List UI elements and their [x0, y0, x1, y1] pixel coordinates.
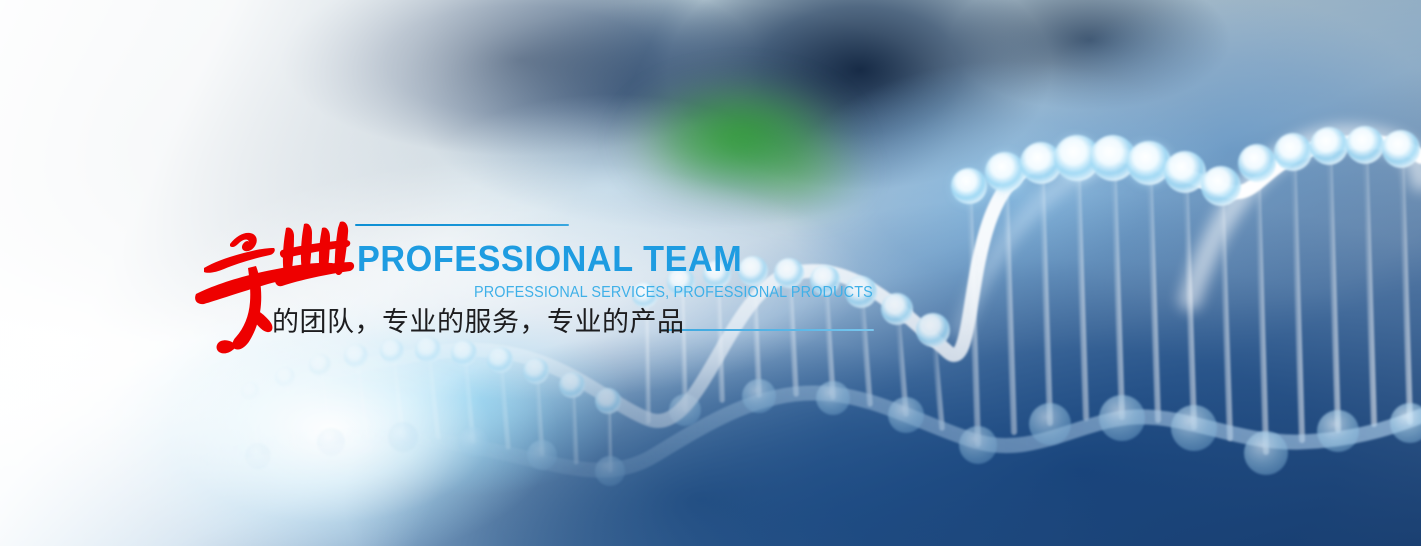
- chinese-tagline: 的团队，专业的服务，专业的产品: [272, 306, 685, 340]
- hero-banner: PROFESSIONAL TEAM PROFESSIONAL SERVICES,…: [0, 0, 1421, 546]
- banner-text-block: PROFESSIONAL TEAM PROFESSIONAL SERVICES,…: [0, 0, 1421, 546]
- bottom-divider-line: [662, 329, 874, 331]
- top-divider-line: [355, 224, 569, 226]
- subtitle: PROFESSIONAL SERVICES, PROFESSIONAL PROD…: [474, 285, 873, 301]
- page-title: PROFESSIONAL TEAM: [357, 241, 742, 277]
